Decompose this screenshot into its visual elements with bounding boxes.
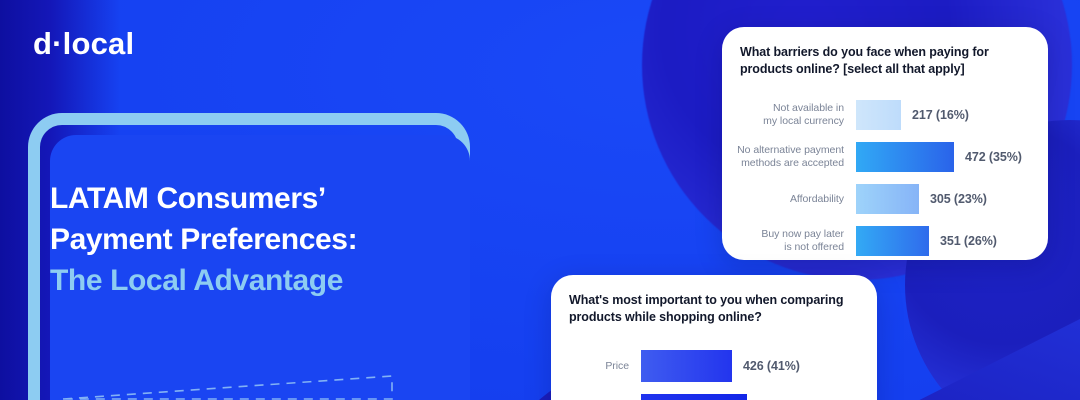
dashed-wedge-decoration: [62, 371, 398, 400]
bar-fill: [856, 184, 919, 214]
bar-fill: [641, 394, 747, 400]
hero-heading: LATAM Consumers’ Payment Preferences: Th…: [50, 178, 450, 301]
chart-card-barriers: What barriers do you face when paying fo…: [722, 27, 1048, 260]
banner-canvas: LATAM Consumers’ Payment Preferences: Th…: [0, 0, 1080, 400]
bar-fill: [856, 226, 929, 256]
bar-row: No alternative paymentmethods are accept…: [722, 136, 1048, 178]
bar-row: Affordability305 (23%): [722, 178, 1048, 220]
hero-line-3: The Local Advantage: [50, 260, 450, 301]
bar-row-value: 217 (16%): [912, 108, 969, 122]
dlocal-logo[interactable]: d·local: [33, 26, 134, 62]
bar-fill: [856, 100, 901, 130]
bar-row-label: Buy now pay lateris not offered: [722, 228, 844, 254]
chart-title-comparing: What's most important to you when compar…: [569, 292, 859, 326]
hero-line-2: Payment Preferences:: [50, 219, 450, 260]
hero-line-1: LATAM Consumers’: [50, 178, 450, 219]
bar-row: Price426 (41%): [551, 344, 877, 388]
bar-row: Quality498 (47%): [551, 388, 877, 400]
bar-rows-barriers: Not available inmy local currency217 (16…: [722, 94, 1048, 262]
bar-row-label: Affordability: [722, 193, 844, 206]
bar-row-value: 426 (41%): [743, 359, 800, 373]
bar-row: Buy now pay lateris not offered351 (26%): [722, 220, 1048, 262]
bar-row-label: No alternative paymentmethods are accept…: [722, 144, 844, 170]
bar-row-label: Price: [551, 360, 629, 373]
bar-row: Not available inmy local currency217 (16…: [722, 94, 1048, 136]
bar-row-label: Not available inmy local currency: [722, 102, 844, 128]
chart-title-barriers: What barriers do you face when paying fo…: [740, 44, 1030, 78]
bar-row-value: 351 (26%): [940, 234, 997, 248]
chart-card-comparing: What's most important to you when compar…: [551, 275, 877, 400]
bar-rows-comparing: Price426 (41%)Quality498 (47%): [551, 344, 877, 400]
bar-fill: [856, 142, 954, 172]
bar-fill: [641, 350, 732, 382]
bar-row-value: 305 (23%): [930, 192, 987, 206]
dlocal-logo-text: d·local: [33, 26, 134, 62]
bar-row-value: 472 (35%): [965, 150, 1022, 164]
